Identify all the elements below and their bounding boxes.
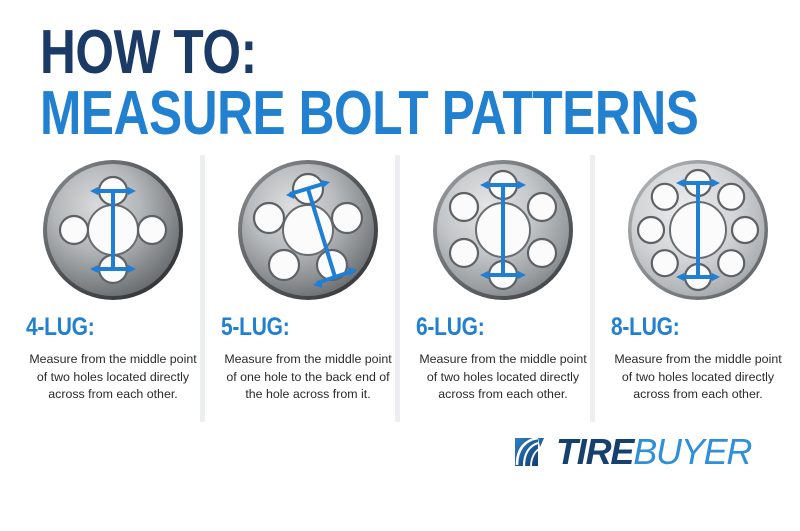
lug-heading-6: 6-LUG: [416, 313, 569, 342]
tire-swoosh-icon [513, 435, 553, 469]
logo-wordmark: TIREBUYER [556, 435, 751, 469]
infographic-canvas: HOW TO: MEASURE BOLT PATTERNS [0, 0, 800, 531]
column-8-lug: 8-LUG: Measure from the middle point of … [603, 155, 793, 404]
lug-pattern-columns: 4-LUG: Measure from the middle point of … [0, 155, 800, 425]
wheel-diagram-8-lug [603, 155, 793, 305]
title-line-measure-bolt-patterns: MEASURE BOLT PATTERNS [40, 85, 600, 142]
wheel-diagram-5-lug [213, 155, 403, 305]
lug-caption-5: Measure from the middle point of one hol… [213, 351, 403, 404]
tirebuyer-logo[interactable]: TIREBUYER [513, 432, 751, 472]
wheel-hub-5-lug-icon [233, 155, 383, 305]
column-6-lug: 6-LUG: Measure from the middle point of … [408, 155, 598, 404]
logo-text-buyer: BUYER [633, 431, 751, 472]
wheel-diagram-4-lug [18, 155, 208, 305]
lug-heading-8: 8-LUG: [611, 313, 764, 342]
logo-text-tire: TIRE [556, 431, 633, 472]
column-4-lug: 4-LUG: Measure from the middle point of … [18, 155, 208, 404]
wheel-hub-8-lug-icon [623, 155, 773, 305]
column-5-lug: 5-LUG: Measure from the middle point of … [213, 155, 403, 404]
lug-heading-5: 5-LUG: [221, 313, 374, 342]
lug-caption-6: Measure from the middle point of two hol… [408, 351, 598, 404]
wheel-diagram-6-lug [408, 155, 598, 305]
page-title: HOW TO: MEASURE BOLT PATTERNS [40, 24, 740, 142]
lug-caption-4: Measure from the middle point of two hol… [18, 351, 208, 404]
lug-heading-4: 4-LUG: [26, 313, 179, 342]
wheel-hub-6-lug-icon [428, 155, 578, 305]
wheel-hub-4-lug-icon [38, 155, 188, 305]
title-line-how-to: HOW TO: [40, 24, 600, 81]
lug-caption-8: Measure from the middle point of two hol… [603, 351, 793, 404]
